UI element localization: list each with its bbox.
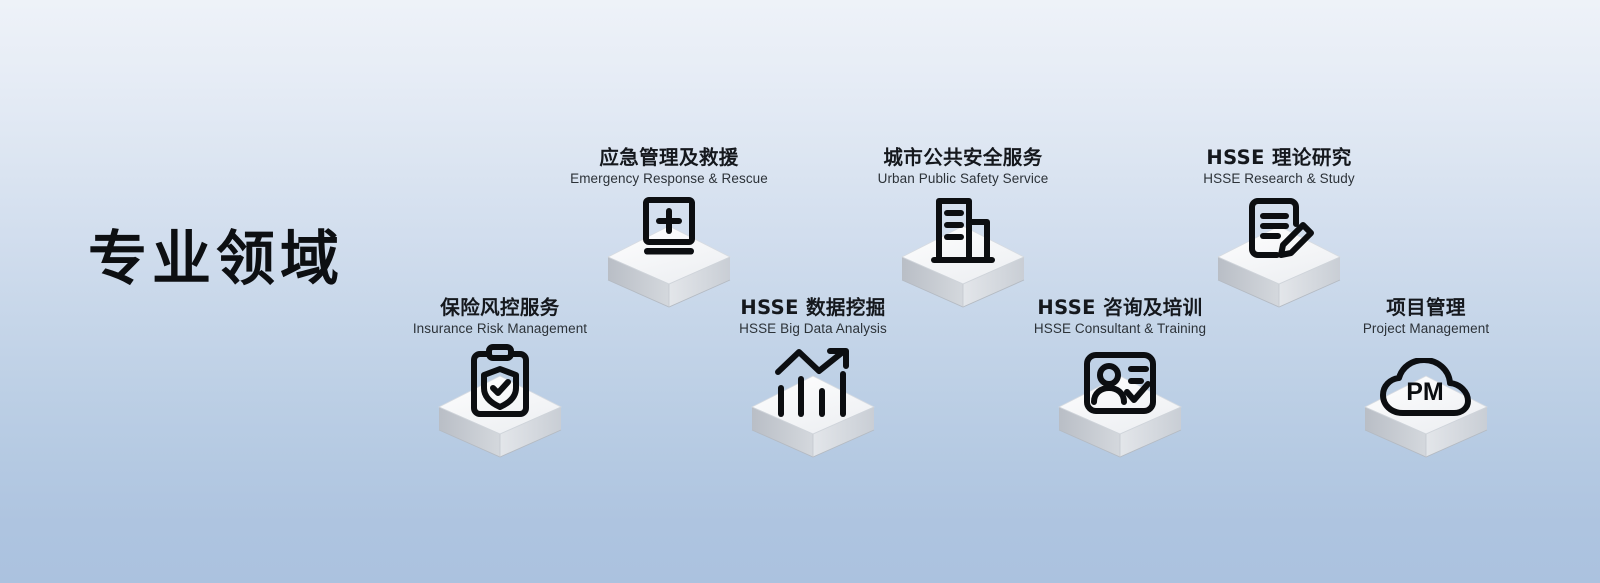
service-title-cn: 城市公共安全服务 xyxy=(813,146,1113,169)
service-title-cn: HSSE 咨询及培训 xyxy=(970,296,1270,319)
service-glyph xyxy=(770,346,856,418)
professional-domains-banner: 专业领域 应急管理及救援Emergency Response & Rescue xyxy=(0,0,1600,583)
first-aid-document-icon xyxy=(633,194,705,266)
service-title-en: Urban Public Safety Service xyxy=(813,171,1113,188)
service-item-project-management[interactable]: 项目管理Project Management PM xyxy=(1276,296,1576,464)
document-pencil-icon xyxy=(1241,194,1317,268)
service-title-en: Insurance Risk Management xyxy=(350,321,650,338)
service-artwork xyxy=(350,344,650,464)
service-item-emergency-response-rescue[interactable]: 应急管理及救援Emergency Response & Rescue xyxy=(519,146,819,314)
service-title-cn: 项目管理 xyxy=(1276,296,1576,319)
service-title-en: Project Management xyxy=(1276,321,1576,338)
service-glyph xyxy=(929,194,997,266)
service-artwork xyxy=(970,344,1270,464)
service-item-hsse-research-study[interactable]: HSSE 理论研究HSSE Research & Study xyxy=(1129,146,1429,314)
cloud-pm-icon: PM xyxy=(1380,358,1472,420)
service-title-en: Emergency Response & Rescue xyxy=(519,171,819,188)
service-glyph xyxy=(1081,350,1159,420)
service-title-cn: 应急管理及救援 xyxy=(519,146,819,169)
service-item-hsse-big-data-analysis[interactable]: HSSE 数据挖掘HSSE Big Data Analysis xyxy=(663,296,963,464)
service-artwork xyxy=(663,344,963,464)
service-item-insurance-risk-management[interactable]: 保险风控服务Insurance Risk Management xyxy=(350,296,650,464)
service-title-en: HSSE Consultant & Training xyxy=(970,321,1270,338)
service-item-urban-public-safety-service[interactable]: 城市公共安全服务Urban Public Safety Service xyxy=(813,146,1113,314)
service-title-en: HSSE Research & Study xyxy=(1129,171,1429,188)
service-title-cn: 保险风控服务 xyxy=(350,296,650,319)
clipboard-shield-check-icon xyxy=(464,344,536,422)
city-buildings-icon xyxy=(929,194,997,266)
service-title-en: HSSE Big Data Analysis xyxy=(663,321,963,338)
service-glyph xyxy=(464,344,536,422)
page-title: 专业领域 xyxy=(88,228,344,290)
service-glyph xyxy=(1241,194,1317,268)
cloud-pm-label: PM xyxy=(1406,378,1444,406)
service-glyph: PM xyxy=(1380,358,1472,420)
service-title-cn: HSSE 数据挖掘 xyxy=(663,296,963,319)
id-badge-person-check-icon xyxy=(1081,350,1159,420)
service-glyph xyxy=(633,194,705,266)
service-title-cn: HSSE 理论研究 xyxy=(1129,146,1429,169)
bar-chart-trend-up-icon xyxy=(770,346,856,418)
service-item-hsse-consultant-training[interactable]: HSSE 咨询及培训HSSE Consultant & Training xyxy=(970,296,1270,464)
service-artwork: PM xyxy=(1276,344,1576,464)
